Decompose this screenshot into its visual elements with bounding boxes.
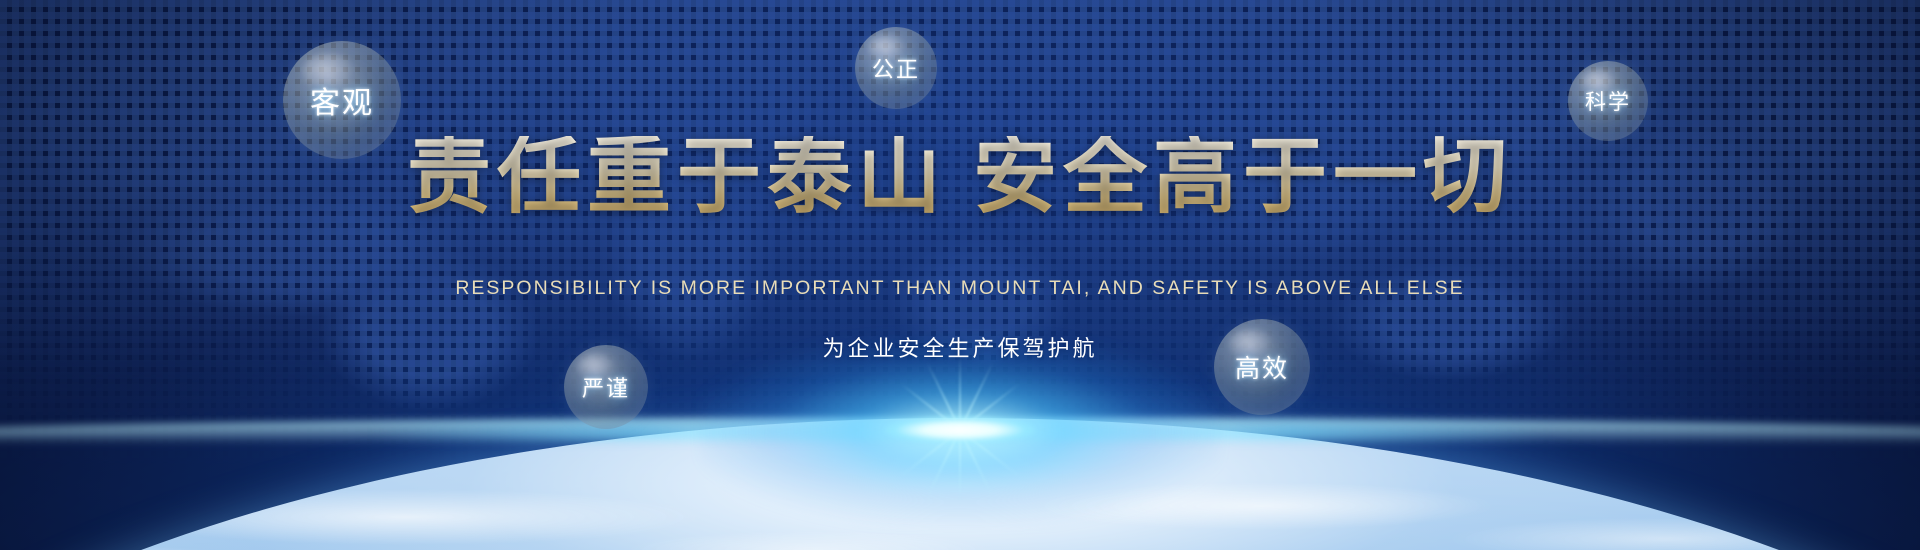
banner-subtitle-english: RESPONSIBILITY IS MORE IMPORTANT THAN MO… — [0, 277, 1920, 300]
value-badge-公正[interactable]: 公正 — [855, 27, 937, 109]
value-badge-label: 科学 — [1585, 86, 1631, 116]
value-badge-严谨[interactable]: 严谨 — [564, 345, 648, 429]
value-badge-科学[interactable]: 科学 — [1568, 61, 1648, 141]
value-badge-label: 公正 — [872, 52, 920, 84]
value-badge-label: 高效 — [1235, 349, 1289, 385]
safety-slogan-banner: 责任重于泰山安全高于一切 RESPONSIBILITY IS MORE IMPO… — [0, 0, 1920, 550]
banner-tagline-chinese: 为企业安全生产保驾护航 — [0, 331, 1920, 363]
title-part-2: 安全高于一切 — [973, 131, 1513, 224]
value-badge-label: 客观 — [310, 78, 374, 122]
banner-title: 责任重于泰山安全高于一切 — [0, 136, 1920, 220]
value-badge-客观[interactable]: 客观 — [283, 41, 401, 159]
title-part-1: 责任重于泰山 — [407, 131, 947, 224]
value-badge-高效[interactable]: 高效 — [1214, 319, 1310, 415]
value-badge-label: 严谨 — [582, 371, 630, 403]
